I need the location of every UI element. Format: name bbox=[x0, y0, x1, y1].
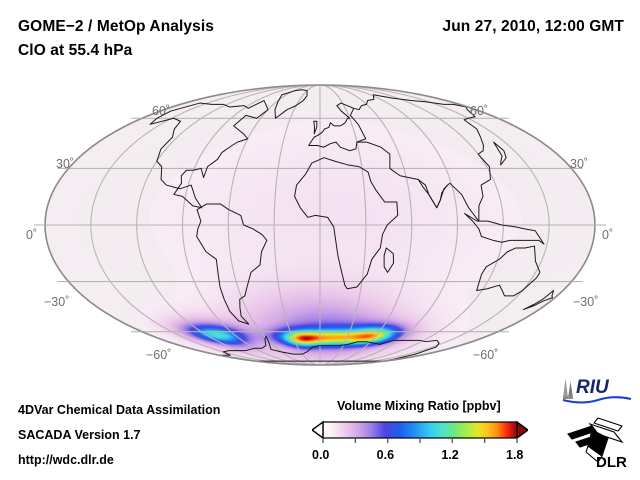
credit-line-version: SACADA Version 1.7 bbox=[18, 428, 141, 442]
colorbar bbox=[312, 420, 528, 444]
colorbar-tick-1: 0.6 bbox=[377, 448, 394, 462]
colorbar-gradient bbox=[312, 420, 528, 444]
dlr-logo: DLR bbox=[562, 412, 634, 470]
colorbar-tick-2: 1.2 bbox=[441, 448, 458, 462]
lat-label-right-9: −60˚ bbox=[473, 348, 498, 362]
figure-canvas: GOME−2 / MetOp Analysis ClO at 55.4 hPa … bbox=[0, 0, 640, 480]
riu-logo: RIU bbox=[560, 374, 634, 404]
lat-label-right-7: 0˚ bbox=[602, 228, 613, 242]
dlr-wordmark: DLR bbox=[596, 454, 627, 470]
riu-wordmark: RIU bbox=[576, 377, 610, 398]
credit-line-url: http://wdc.dlr.de bbox=[18, 453, 114, 467]
lat-label-left-4: −60˚ bbox=[146, 348, 171, 362]
colorbar-tick-3: 1.8 bbox=[506, 448, 523, 462]
timestamp-label: Jun 27, 2010, 12:00 GMT bbox=[443, 18, 625, 36]
lat-label-left-1: 30˚ bbox=[56, 157, 74, 171]
credit-line-assimilation: 4DVar Chemical Data Assimilation bbox=[18, 403, 220, 417]
lat-label-left-3: −30˚ bbox=[44, 295, 69, 309]
riu-swoosh-icon bbox=[563, 397, 631, 402]
lat-label-left-0: 60˚ bbox=[152, 104, 170, 118]
world-map-mollweide bbox=[0, 70, 640, 380]
lat-label-right-6: 30˚ bbox=[570, 157, 588, 171]
lat-label-left-2: 0˚ bbox=[26, 228, 37, 242]
colorbar-title: Volume Mixing Ratio [ppbv] bbox=[337, 399, 501, 413]
lat-label-right-5: 60˚ bbox=[470, 104, 488, 118]
lat-label-right-8: −30˚ bbox=[573, 295, 598, 309]
page-subtitle: ClO at 55.4 hPa bbox=[18, 42, 132, 60]
page-title: GOME−2 / MetOp Analysis bbox=[18, 18, 214, 36]
colorbar-tick-0: 0.0 bbox=[312, 448, 329, 462]
riu-tower-icon bbox=[563, 378, 573, 399]
